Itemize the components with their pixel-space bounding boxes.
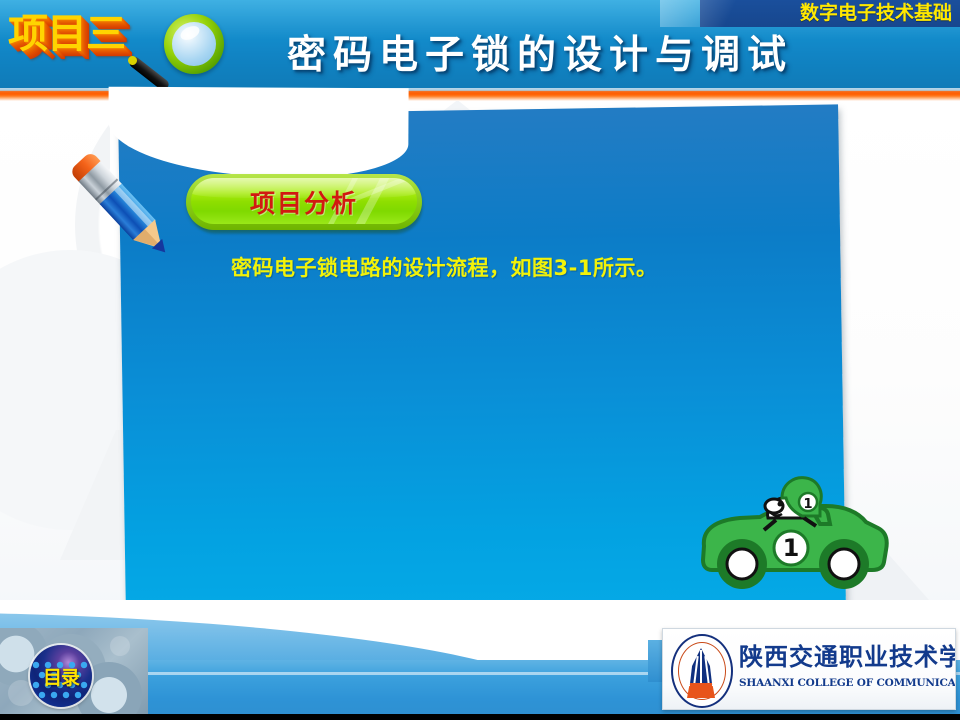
course-banner-swoosh bbox=[660, 0, 780, 27]
project-number-logo: 项目三 bbox=[8, 6, 136, 78]
section-button-label: 项目分析 bbox=[186, 174, 422, 230]
course-banner-label: 数字电子技术基础 bbox=[800, 1, 952, 26]
slide-bottom-edge bbox=[0, 714, 960, 720]
page-title: 密码电子锁的设计与调试 bbox=[230, 22, 850, 82]
pencil-icon bbox=[62, 138, 186, 256]
school-crest-base-top bbox=[690, 683, 712, 688]
school-crest-ray-1 bbox=[700, 650, 702, 684]
toc-button-label: 目录 bbox=[30, 645, 92, 707]
project-number-label: 项目三 bbox=[8, 6, 136, 62]
slide-header: 项目三 密码电子锁的设计与调试 数字电子技术基础 bbox=[0, 0, 960, 88]
magnifier-icon bbox=[130, 12, 226, 88]
race-car-svg: 1 1 bbox=[694, 472, 890, 590]
school-name-en: SHAANXI COLLEGE OF COMMUNICATION TECHNOL… bbox=[739, 677, 956, 689]
car-number: 1 bbox=[783, 534, 800, 562]
footer-gear-dot-2 bbox=[110, 636, 130, 656]
school-crest-icon bbox=[671, 634, 733, 708]
race-car-icon: 1 1 bbox=[694, 472, 890, 590]
pencil-body bbox=[69, 151, 170, 256]
body-text: 密码电子锁电路的设计流程，如图3-1所示。 bbox=[231, 252, 657, 282]
school-name-cn: 陕西交通职业技术学院 bbox=[739, 637, 956, 672]
slide-root: 项目三 密码电子锁的设计与调试 数字电子技术基础 bbox=[0, 0, 960, 720]
school-logo: 陕西交通职业技术学院 SHAANXI COLLEGE OF COMMUNICAT… bbox=[662, 628, 956, 710]
section-button[interactable]: 项目分析 bbox=[186, 174, 424, 236]
helmet-number: 1 bbox=[803, 497, 812, 512]
